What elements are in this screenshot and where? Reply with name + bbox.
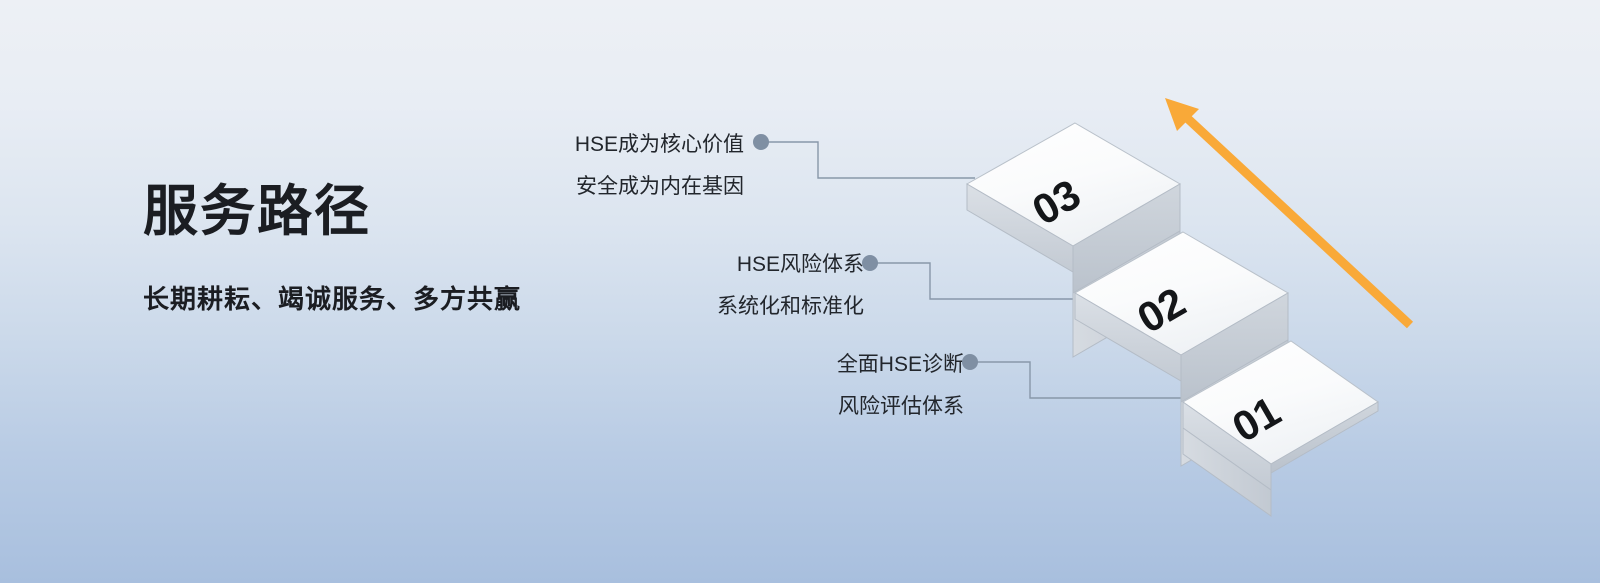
slide-canvas: 服务路径 长期耕耘、竭诚服务、多方共赢 HSE成为核心价值 安全成为内在基因 H… [0, 0, 1600, 583]
connector-group-03 [753, 134, 975, 178]
connector-dot-02 [862, 255, 878, 271]
connector-group-02 [862, 255, 1085, 299]
staircase-illustration: 03 02 01 [0, 0, 1600, 583]
connector-line-03 [765, 142, 975, 178]
connector-line-02 [875, 263, 1085, 299]
connector-dot-03 [753, 134, 769, 150]
connector-dot-01 [962, 354, 978, 370]
